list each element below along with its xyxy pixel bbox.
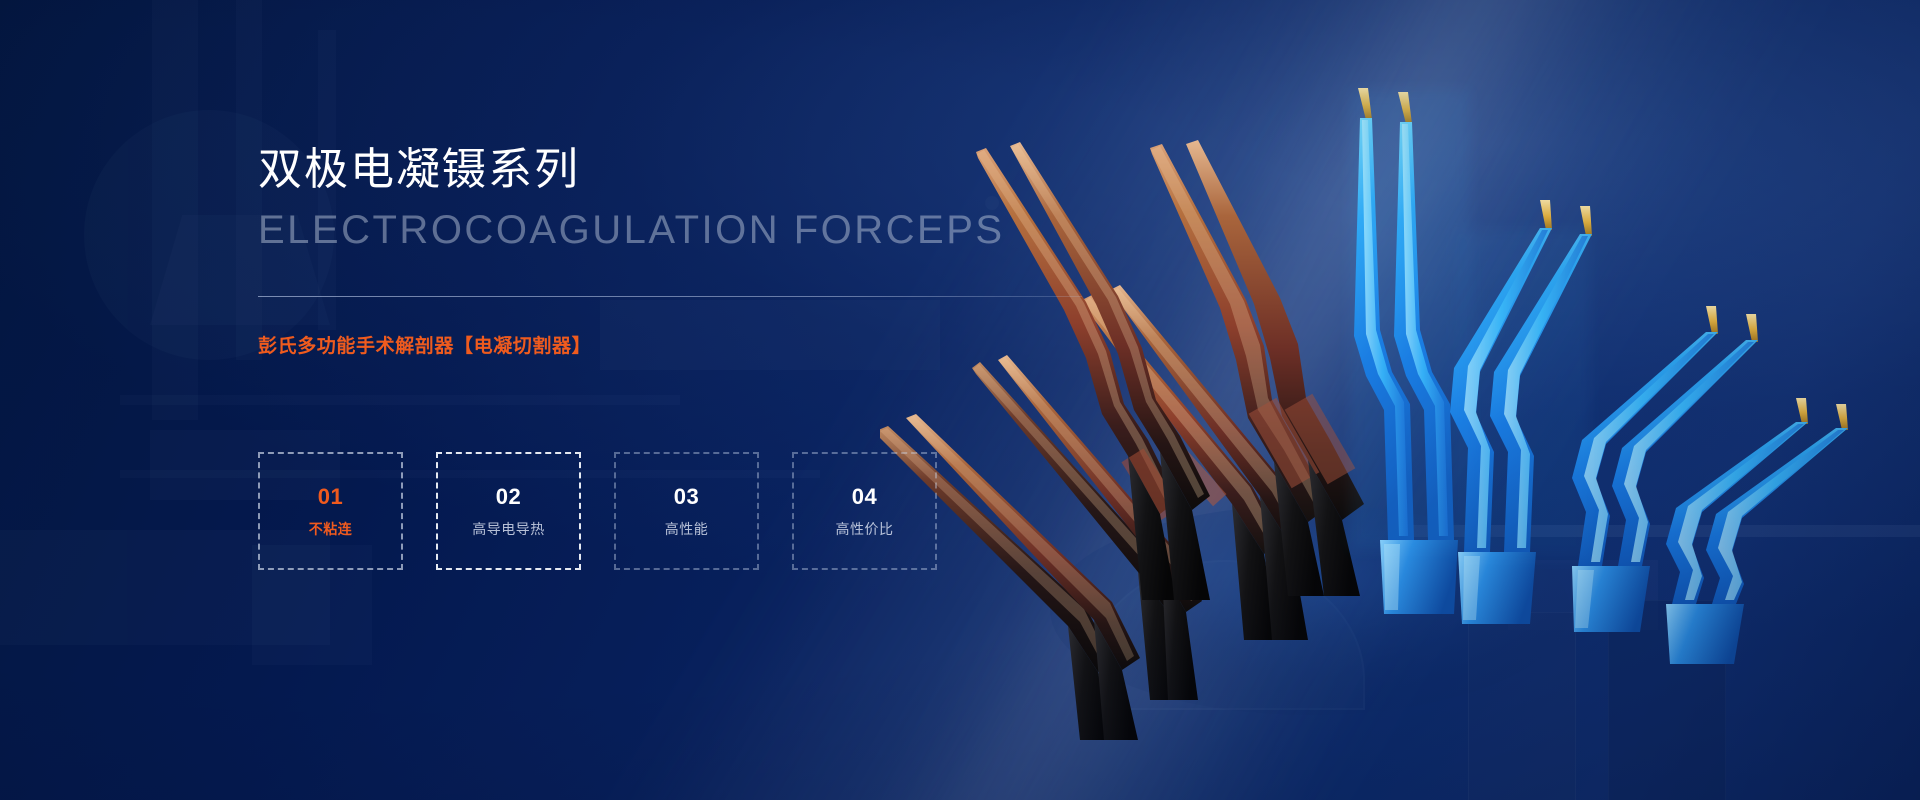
product-subtitle: 彭氏多功能手术解剖器【电凝切割器】 [258, 337, 591, 356]
wall-trim-shape [1400, 525, 1920, 537]
feature-label: 高性能 [665, 522, 709, 536]
feature-label: 高导电导热 [472, 522, 545, 536]
feature-card-02[interactable]: 02 高导电导热 [436, 452, 581, 570]
page-title-english: ELECTROCOAGULATION FORCEPS [258, 210, 1005, 250]
feature-list: 01 不粘连 02 高导电导热 03 高性能 04 高性价比 [258, 452, 948, 572]
wall-panel-shape [1608, 600, 1726, 800]
wall-panel-shape [1468, 612, 1576, 800]
feature-number: 03 [674, 486, 699, 508]
feature-number: 01 [318, 486, 343, 508]
feature-card-03[interactable]: 03 高性能 [614, 452, 759, 570]
equipment-column-shape [152, 0, 198, 420]
arc-rail-shape [1085, 560, 1365, 710]
feature-number: 02 [496, 486, 521, 508]
page-title: 双极电凝镊系列 [258, 148, 580, 192]
product-banner: 双极电凝镊系列 ELECTROCOAGULATION FORCEPS 彭氏多功能… [0, 0, 1920, 800]
title-divider [258, 296, 1082, 297]
feature-card-04[interactable]: 04 高性价比 [792, 452, 937, 570]
operating-room-backdrop-right [1400, 0, 1920, 800]
feature-card-01[interactable]: 01 不粘连 [258, 452, 403, 570]
feature-label: 不粘连 [309, 522, 353, 536]
feature-number: 04 [852, 486, 877, 508]
feature-label: 高性价比 [836, 522, 894, 536]
banner-content: 双极电凝镊系列 ELECTROCOAGULATION FORCEPS 彭氏多功能… [258, 0, 1018, 800]
